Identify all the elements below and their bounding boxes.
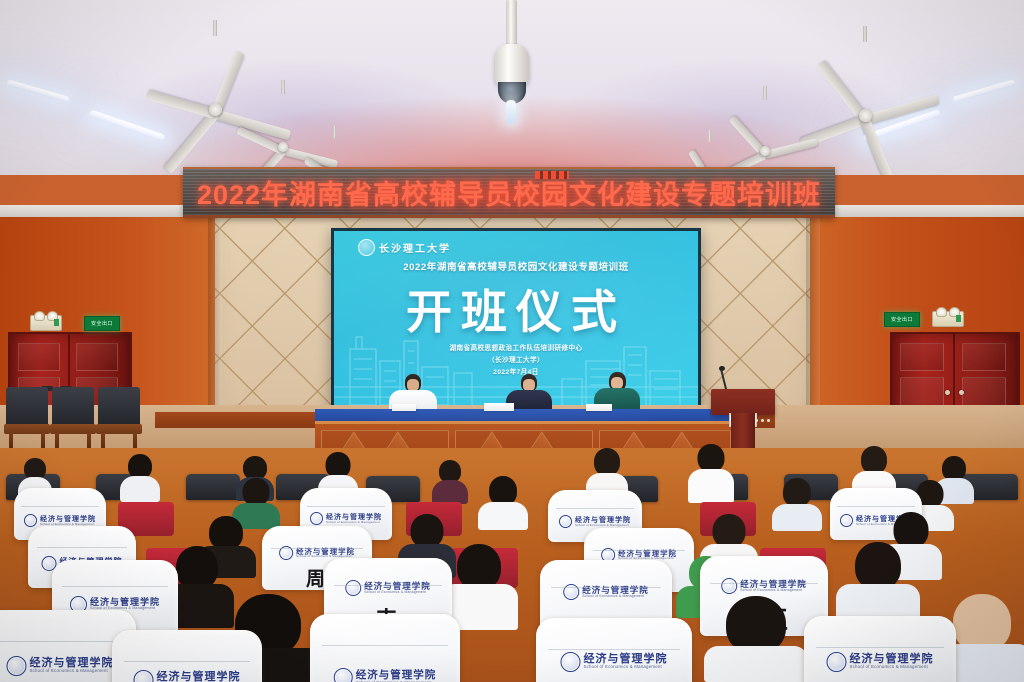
fan-hub <box>278 142 288 152</box>
exit-sign-right-label: 安全出口 <box>891 316 913 323</box>
chair-logo-en: School of Economics & Management <box>582 595 649 598</box>
emergency-lamp <box>34 311 45 321</box>
tube-light <box>6 79 69 102</box>
school-seal-icon <box>345 580 361 596</box>
ceiling <box>0 0 1024 175</box>
head <box>411 514 444 548</box>
screen-main-title: 开班仪式 <box>334 276 698 342</box>
fan-blade <box>236 126 285 154</box>
chair-logo-en: School of Economics & Management <box>584 665 668 669</box>
exit-sign-left-label: 安全出口 <box>91 320 113 327</box>
fan-blade <box>764 138 818 159</box>
university-name: 长沙理工大学 <box>379 240 451 255</box>
chair-logo: 经济与管理学院 School of Economics & Management <box>345 580 431 596</box>
chair-logo-text: 经济与管理学院 School of Economics & Management <box>582 586 649 598</box>
side-chair[interactable] <box>98 387 140 447</box>
head <box>209 516 243 550</box>
university-seal-icon <box>358 239 375 256</box>
chair-logo-text: 经济与管理学院 School of Economics & Management <box>30 658 114 673</box>
emergency-led <box>956 315 961 322</box>
camera-body <box>495 44 529 86</box>
table-name-card <box>586 404 612 411</box>
screen-subtitle: 2022年湖南省高校辅导员校园文化建设专题培训班 <box>334 259 698 273</box>
led-banner-text: 2022年湖南省高校辅导员校园文化建设专题培训班 <box>183 169 835 215</box>
exit-sign-right: 安全出口 <box>884 312 920 327</box>
head <box>861 446 887 474</box>
side-chair-back <box>52 387 94 427</box>
fan-blade <box>860 118 893 175</box>
chair-logo-cn: 经济与管理学院 <box>157 672 241 682</box>
exit-sign-left: 安全出口 <box>84 316 120 331</box>
emergency-light <box>932 311 964 327</box>
head <box>594 448 620 476</box>
chair-logo: 经济与管理学院 School of Economics & Management <box>827 652 934 672</box>
head <box>855 542 901 590</box>
chair-logo: 经济与管理学院 School of Economics & Management <box>7 656 114 676</box>
chair-logo: 经济与管理学院 School of Economics & Management <box>561 652 668 672</box>
side-chair[interactable] <box>52 387 94 447</box>
fan-blade <box>146 90 216 119</box>
chair-logo: 经济与管理学院 School of Economics & Management <box>721 578 807 594</box>
chair-logo: 经济与管理学院 School of Economics & Management <box>563 584 649 600</box>
microphone-icon <box>719 366 725 371</box>
chair-logo-en: School of Economics & Management <box>740 589 807 592</box>
fan-hub <box>760 146 770 156</box>
fan-rod <box>763 86 767 100</box>
head <box>713 514 746 548</box>
screen-university-logo: 长沙理工大学 <box>358 239 451 256</box>
school-seal-icon <box>827 652 847 672</box>
school-seal-icon <box>561 652 581 672</box>
fan-hub <box>209 103 222 116</box>
shoulders <box>704 646 808 682</box>
ptz-dome-camera-icon <box>489 0 535 120</box>
chair-logo-text: 经济与管理学院 School of Economics & Management <box>740 580 807 592</box>
school-seal-icon <box>334 668 353 682</box>
chair-logo-en: School of Economics & Management <box>364 591 431 594</box>
fan-hub <box>859 109 872 122</box>
fan-blade <box>864 94 940 125</box>
fan-rod <box>281 80 285 94</box>
organizer-line-2: （长沙理工大学） <box>334 355 698 367</box>
camera-light-glow <box>506 100 516 124</box>
chair-logo-text: 经济与管理学院 School of Economics & Management <box>584 654 668 669</box>
led-banner-chip <box>535 171 569 179</box>
fan-rod <box>863 26 867 42</box>
emergency-lamp <box>936 307 947 317</box>
organizer-line-1: 湖南省高校思想政治工作队伍培训研修中心 <box>334 343 698 355</box>
table-document <box>392 404 416 411</box>
door-panel <box>76 343 118 371</box>
head <box>243 478 270 506</box>
fan-blade <box>164 111 219 174</box>
audience-member <box>704 596 808 682</box>
lectern-indicator-lights <box>755 419 770 422</box>
school-seal-icon <box>134 670 154 682</box>
door-panel <box>962 343 1006 371</box>
tube-light <box>952 79 1015 102</box>
list-item[interactable]: 经济与管理学院 School of Economics & Management <box>804 616 956 682</box>
door-handle[interactable] <box>959 390 964 395</box>
conference-hall-photo: 2022年湖南省高校辅导员校园文化建设专题培训班 安全出口 安全出口 <box>0 0 1024 682</box>
school-seal-icon <box>7 656 27 676</box>
table-document <box>484 403 514 411</box>
chair-logo-text: 经济与管理学院 School of Economics & Management <box>356 670 437 682</box>
chair-logo-text: 经济与管理学院 School of Economics & Management <box>157 672 241 682</box>
emergency-led <box>54 319 59 326</box>
door-panel <box>18 343 60 371</box>
list-item[interactable]: 经济与管理学院 School of Economics & Management <box>536 618 692 682</box>
led-banner: 2022年湖南省高校辅导员校园文化建设专题培训班 <box>183 167 835 218</box>
chair-logo-en: School of Economics & Management <box>850 665 934 669</box>
fan-rod <box>333 126 336 138</box>
side-chair-back <box>98 387 140 427</box>
school-seal-icon <box>721 578 737 594</box>
list-item[interactable]: 经济与管理学院 School of Economics & Management <box>112 630 262 682</box>
fan-rod <box>213 20 217 36</box>
chair-logo: 经济与管理学院 School of Economics & Management <box>334 668 437 682</box>
fan-rod <box>708 130 711 142</box>
side-chair[interactable] <box>6 387 48 447</box>
emergency-light <box>30 315 62 331</box>
head <box>783 478 811 507</box>
chair-logo-en: School of Economics & Management <box>30 669 114 673</box>
side-chair-back <box>6 387 48 427</box>
list-item[interactable]: 经济与管理学院 School of Economics & Management <box>310 614 460 682</box>
head <box>698 444 725 472</box>
chair-logo: 经济与管理学院 School of Economics & Management <box>134 670 241 682</box>
chair-logo-text: 经济与管理学院 School of Economics & Management <box>364 582 431 594</box>
audience-row-front: 经济与管理学院 School of Economics & Management… <box>0 600 1024 682</box>
school-seal-icon <box>563 584 579 600</box>
door-panel <box>900 343 944 371</box>
chair-logo-text: 经济与管理学院 School of Economics & Management <box>850 654 934 669</box>
lectern-top <box>711 389 775 415</box>
door-handle[interactable] <box>945 390 950 395</box>
